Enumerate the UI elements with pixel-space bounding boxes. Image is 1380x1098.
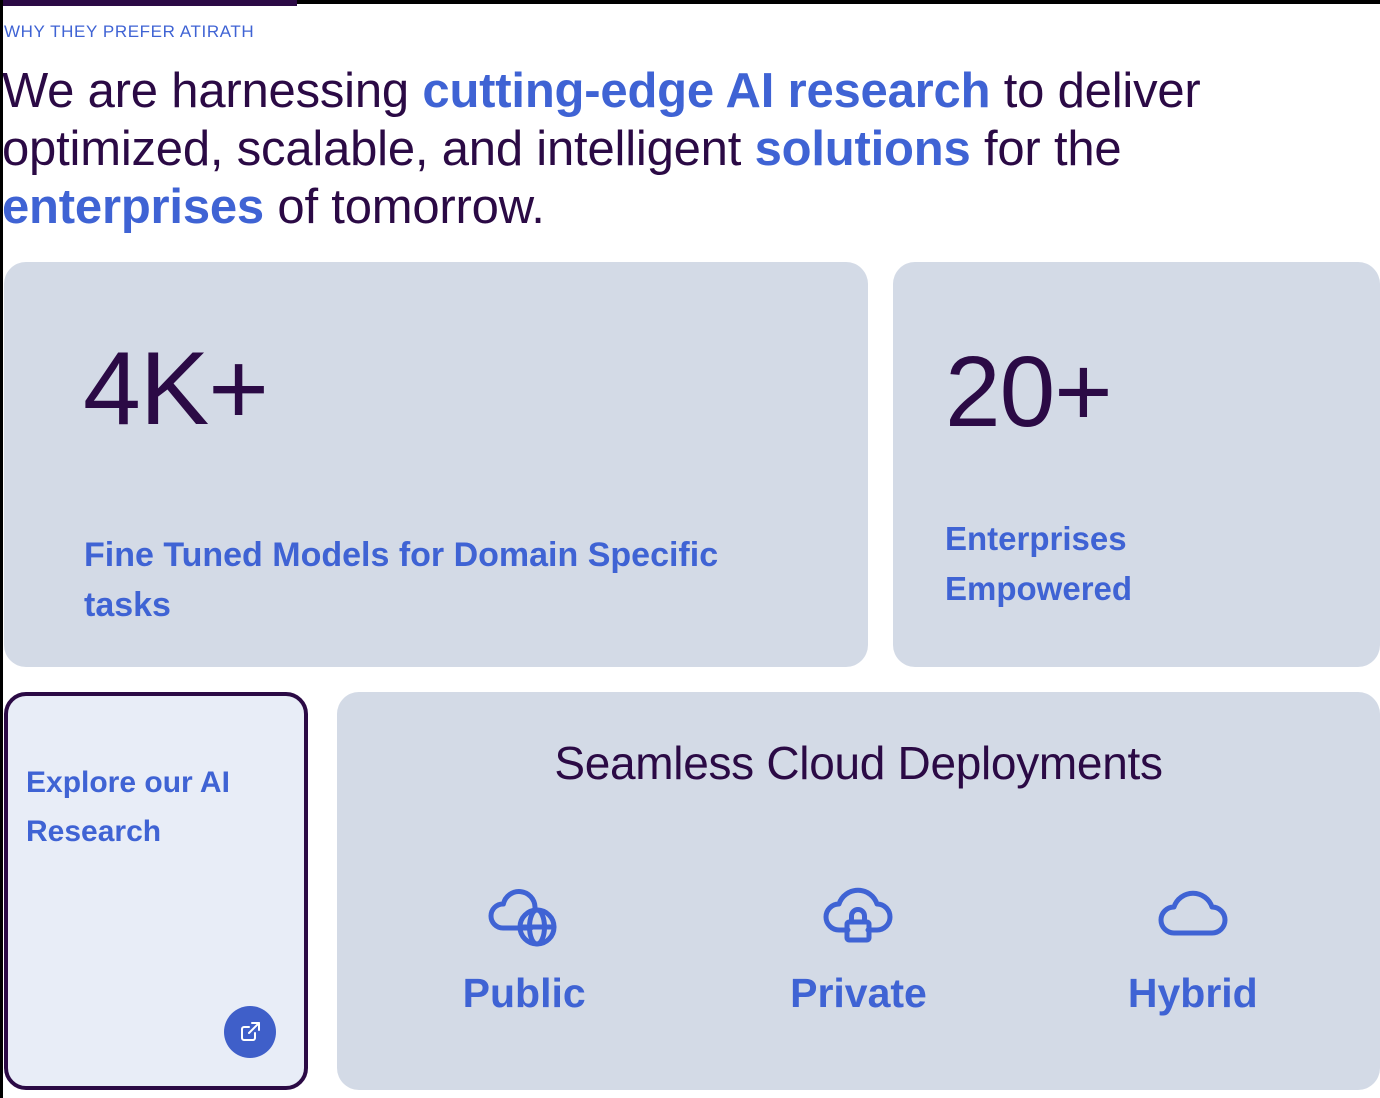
stat-card-models: 4K+ Fine Tuned Models for Domain Specifi…: [4, 262, 868, 667]
section-eyebrow: WHY THEY PREFER ATIRATH: [4, 22, 254, 42]
headline-text-4: of tomorrow.: [264, 180, 545, 234]
stat-value-enterprises: 20+: [945, 342, 1112, 442]
cloud-deployment-options: Public Private: [357, 877, 1360, 1016]
frame-top-accent: [0, 0, 297, 6]
explore-research-button[interactable]: [224, 1006, 276, 1058]
cloud-option-label-hybrid: Hybrid: [1128, 971, 1258, 1016]
headline-highlight-1: cutting-edge AI research: [422, 64, 990, 118]
page-root: WHY THEY PREFER ATIRATH We are harnessin…: [0, 0, 1380, 1098]
stats-row: 4K+ Fine Tuned Models for Domain Specifi…: [4, 262, 1380, 667]
explore-research-card[interactable]: Explore our AI Research: [4, 692, 308, 1090]
cloud-globe-icon: [485, 877, 563, 959]
explore-research-title: Explore our AI Research: [26, 758, 296, 856]
cloud-lock-icon: [819, 877, 897, 959]
cloud-option-private[interactable]: Private: [708, 877, 1008, 1016]
frame-top-border: [297, 0, 1380, 4]
headline-highlight-3: enterprises: [2, 180, 264, 234]
stat-caption-enterprises: Enterprises Empowered: [945, 514, 1245, 614]
cloud-option-label-private: Private: [790, 971, 927, 1016]
frame-left-border: [0, 0, 3, 1098]
cloud-icon: [1154, 877, 1232, 959]
headline-text-1: We are harnessing: [2, 64, 422, 118]
cloud-option-public[interactable]: Public: [374, 877, 674, 1016]
headline-text-3: for the: [971, 122, 1122, 176]
page-title: We are harnessing cutting-edge AI resear…: [2, 62, 1378, 236]
external-link-icon: [238, 1020, 262, 1044]
stat-card-enterprises: 20+ Enterprises Empowered: [893, 262, 1380, 667]
headline-highlight-2: solutions: [755, 122, 971, 176]
stat-caption-models: Fine Tuned Models for Domain Specific ta…: [84, 530, 784, 630]
cloud-option-label-public: Public: [463, 971, 586, 1016]
cloud-deployments-card: Seamless Cloud Deployments Public: [337, 692, 1380, 1090]
bottom-row: Explore our AI Research Seamless Cloud D…: [4, 692, 1380, 1090]
cloud-deployments-title: Seamless Cloud Deployments: [337, 736, 1380, 790]
stat-value-models: 4K+: [83, 337, 268, 441]
cloud-option-hybrid[interactable]: Hybrid: [1043, 877, 1343, 1016]
